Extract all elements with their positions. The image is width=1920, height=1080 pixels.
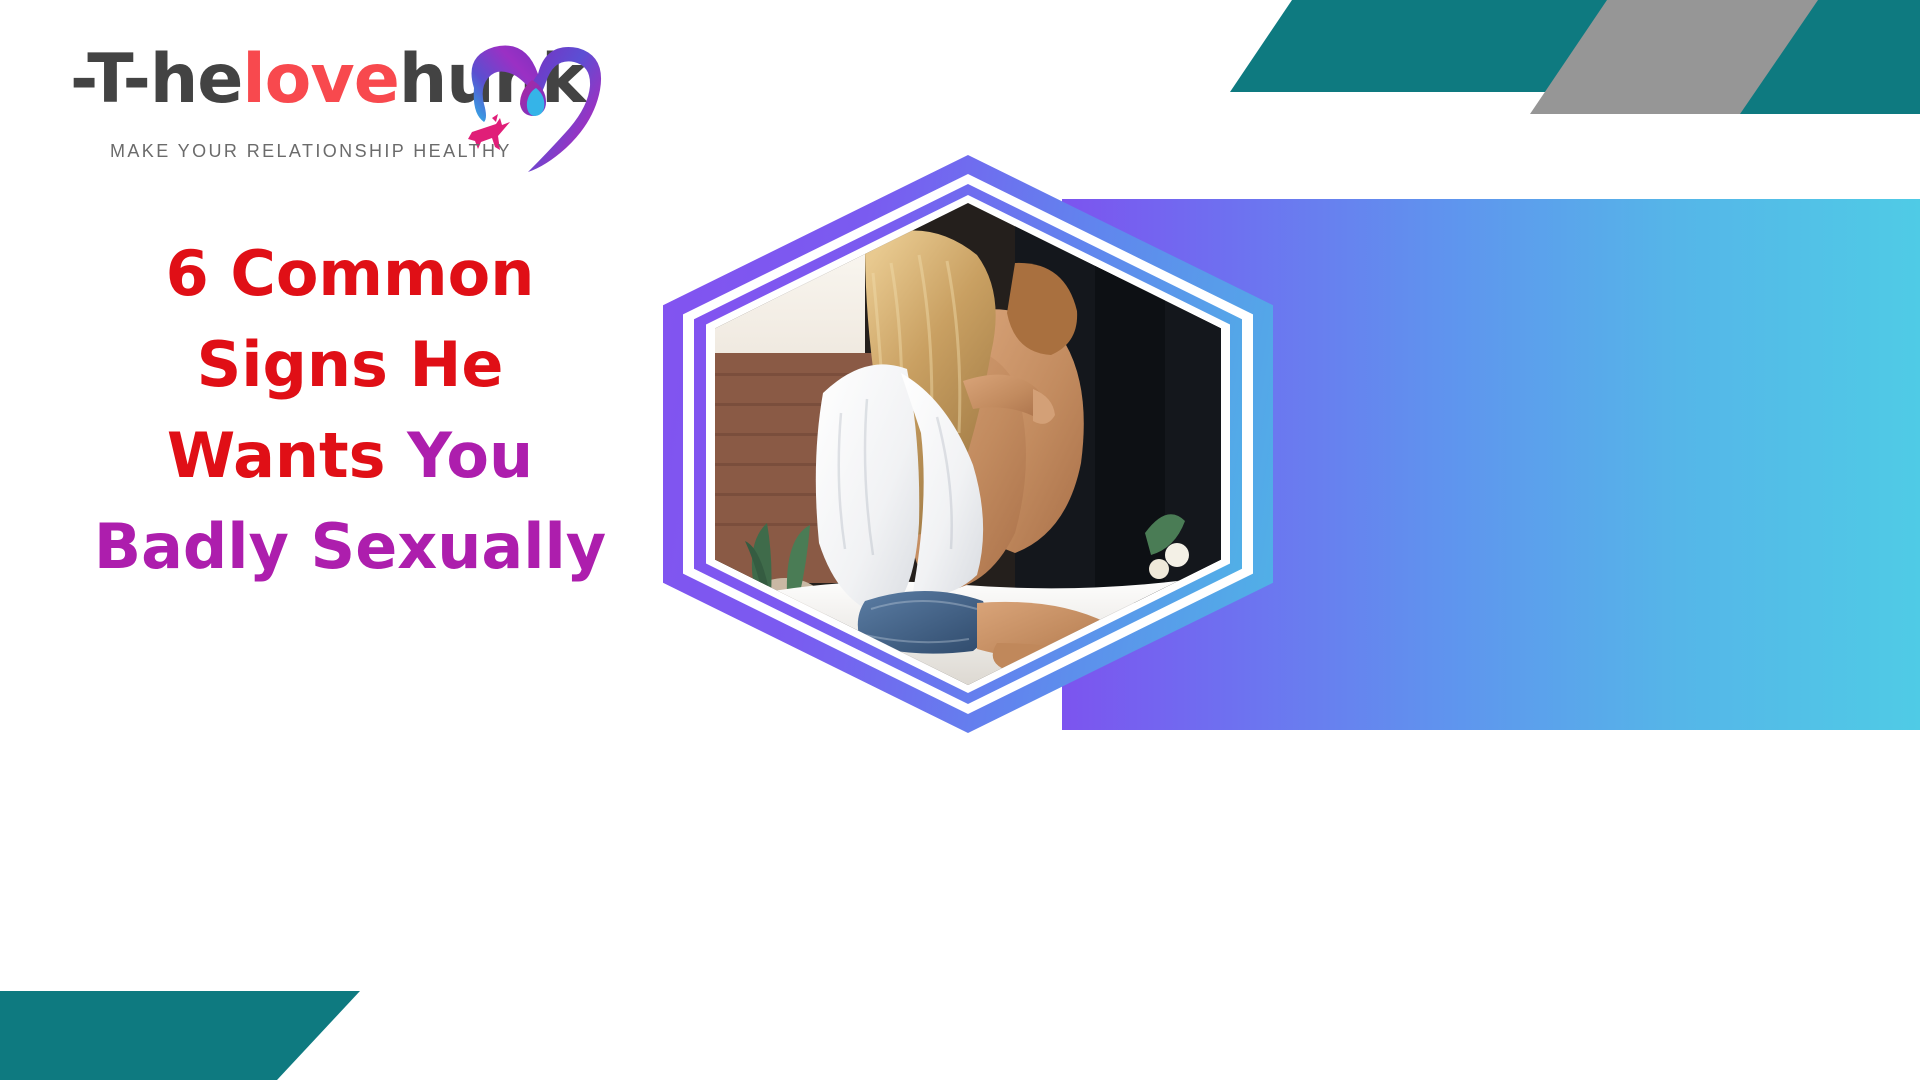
- slide-canvas: -T-helovehunk: [0, 0, 1920, 1080]
- title-line-1-text: 6 Common: [166, 237, 535, 310]
- title-line-2-text: Signs He: [197, 328, 504, 401]
- title-line-3-text-a: Wants: [167, 419, 407, 492]
- brand-logo[interactable]: -T-helovehunk: [62, 28, 622, 168]
- title-line-1: 6 Common: [40, 228, 660, 319]
- logo-wordmark-part1: -T-he: [70, 40, 242, 119]
- title-line-3: Wants You: [40, 410, 660, 501]
- title-line-4: Badly Sexually: [40, 501, 660, 592]
- title-line-2: Signs He: [40, 319, 660, 410]
- page-title: 6 Common Signs He Wants You Badly Sexual…: [40, 228, 660, 593]
- logo-wordmark-part2: love: [242, 40, 398, 119]
- title-line-4-text: Badly Sexually: [94, 510, 606, 583]
- hero-hexagon-frame: [663, 155, 1273, 733]
- bottom-left-teal-trapezoid: [0, 991, 360, 1080]
- logo-tagline: MAKE YOUR RELATIONSHIP HEALTHY: [110, 141, 512, 162]
- title-line-3-text-b: You: [407, 419, 533, 492]
